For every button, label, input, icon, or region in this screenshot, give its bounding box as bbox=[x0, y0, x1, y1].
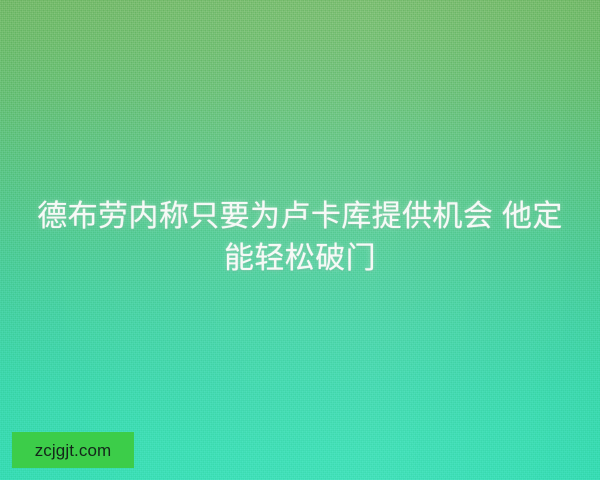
headline-container: 德布劳内称只要为卢卡库提供机会 他定能轻松破门 bbox=[0, 196, 600, 280]
headline-text: 德布劳内称只要为卢卡库提供机会 他定能轻松破门 bbox=[30, 196, 570, 280]
watermark-badge: zcjgjt.com bbox=[12, 432, 134, 468]
image-card: 德布劳内称只要为卢卡库提供机会 他定能轻松破门 zcjgjt.com bbox=[0, 0, 600, 480]
watermark-label: zcjgjt.com bbox=[35, 442, 112, 459]
